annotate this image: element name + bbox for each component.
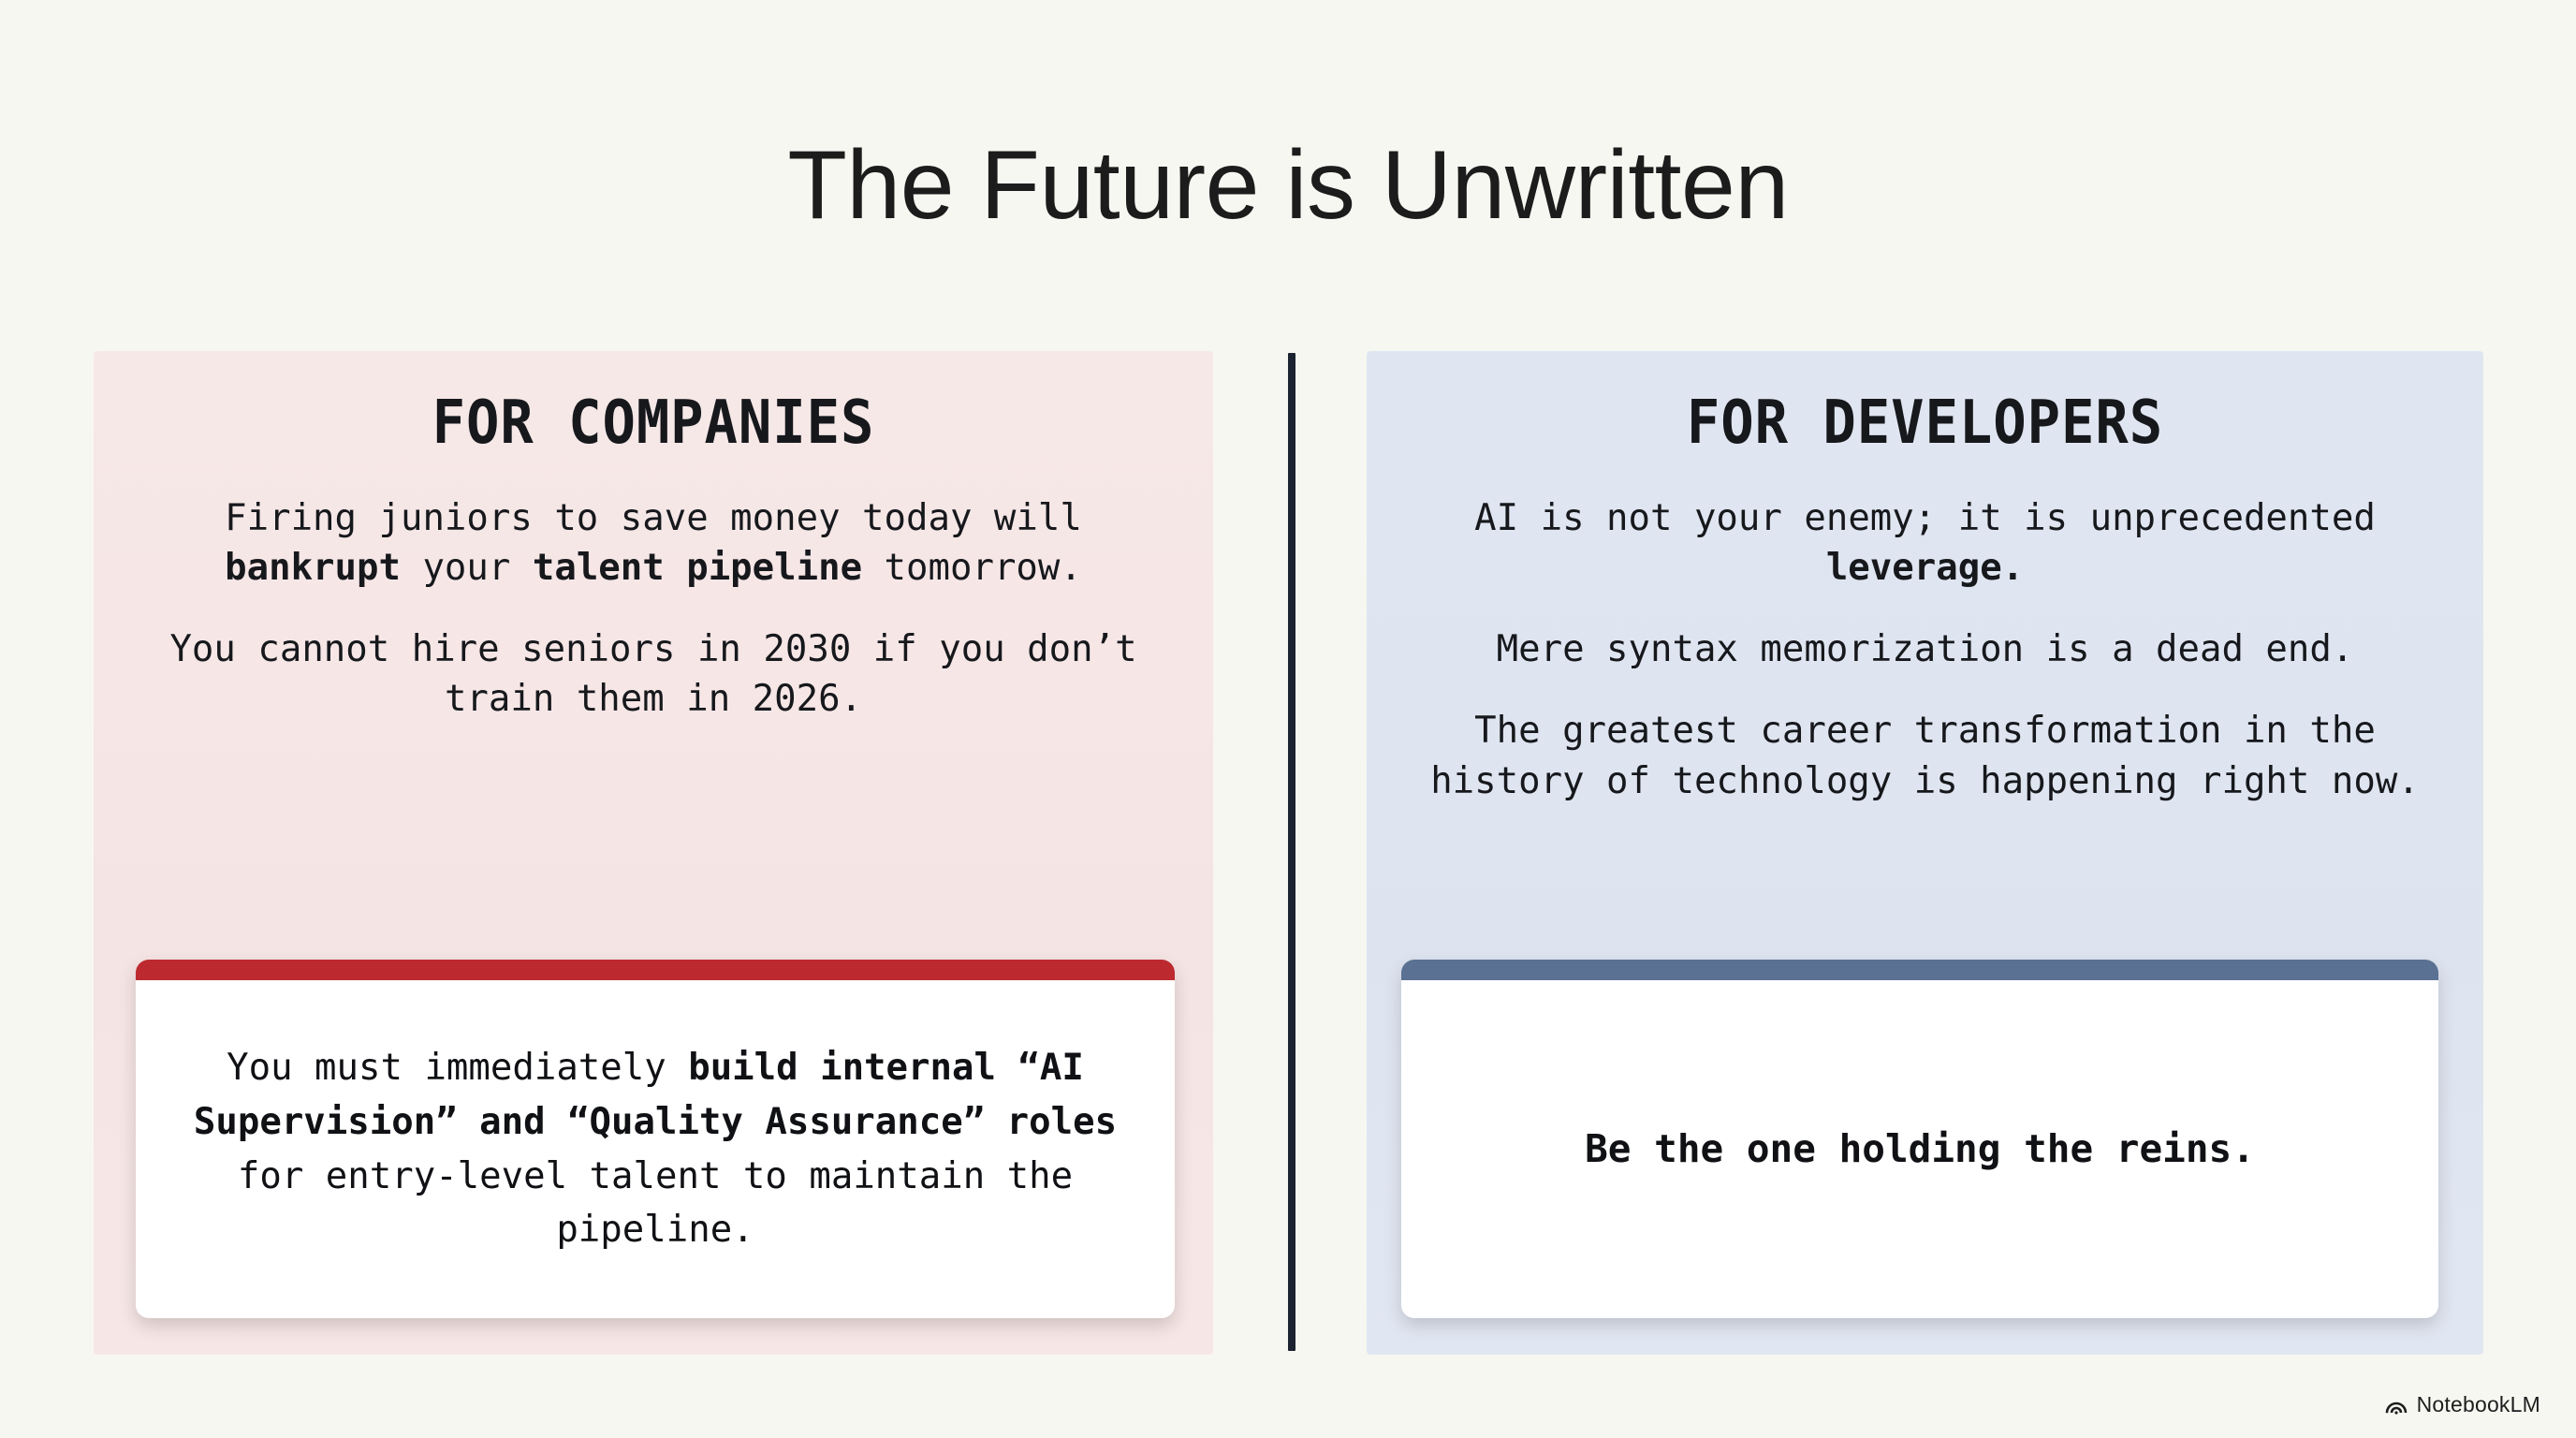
- callout-card-companies: You must immediately build internal “AI …: [136, 960, 1175, 1318]
- panel-body-developers: AI is not your enemy; it is unprecedente…: [1367, 493, 2483, 805]
- callout-paragraph: Be the one holding the reins.: [1585, 1121, 2255, 1178]
- panel-heading-developers: FOR DEVELOPERS: [1412, 390, 2439, 456]
- notebooklm-logo-icon: [2384, 1395, 2408, 1416]
- vertical-divider: [1288, 353, 1295, 1351]
- notebooklm-watermark-label: NotebookLM: [2417, 1392, 2540, 1417]
- panel-paragraph: You cannot hire seniors in 2030 if you d…: [144, 624, 1163, 724]
- callout-card-developers: Be the one holding the reins.: [1401, 960, 2438, 1318]
- callout-text-developers: Be the one holding the reins.: [1401, 980, 2438, 1318]
- callout-accent-bar-companies: [136, 960, 1175, 980]
- callout-paragraph: You must immediately build internal “AI …: [177, 1041, 1134, 1257]
- callout-accent-bar-developers: [1401, 960, 2438, 980]
- callout-text-companies: You must immediately build internal “AI …: [136, 980, 1175, 1318]
- panel-paragraph: Firing juniors to save money today will …: [144, 493, 1163, 593]
- panel-paragraph: AI is not your enemy; it is unprecedente…: [1404, 493, 2446, 593]
- notebooklm-watermark: NotebookLM: [2384, 1392, 2540, 1417]
- panel-paragraph: The greatest career transformation in th…: [1404, 706, 2446, 805]
- panel-paragraph: Mere syntax memorization is a dead end.: [1404, 624, 2446, 674]
- panel-body-companies: Firing juniors to save money today will …: [94, 493, 1213, 724]
- panel-heading-companies: FOR COMPANIES: [139, 390, 1168, 456]
- page-title: The Future is Unwritten: [0, 137, 2576, 234]
